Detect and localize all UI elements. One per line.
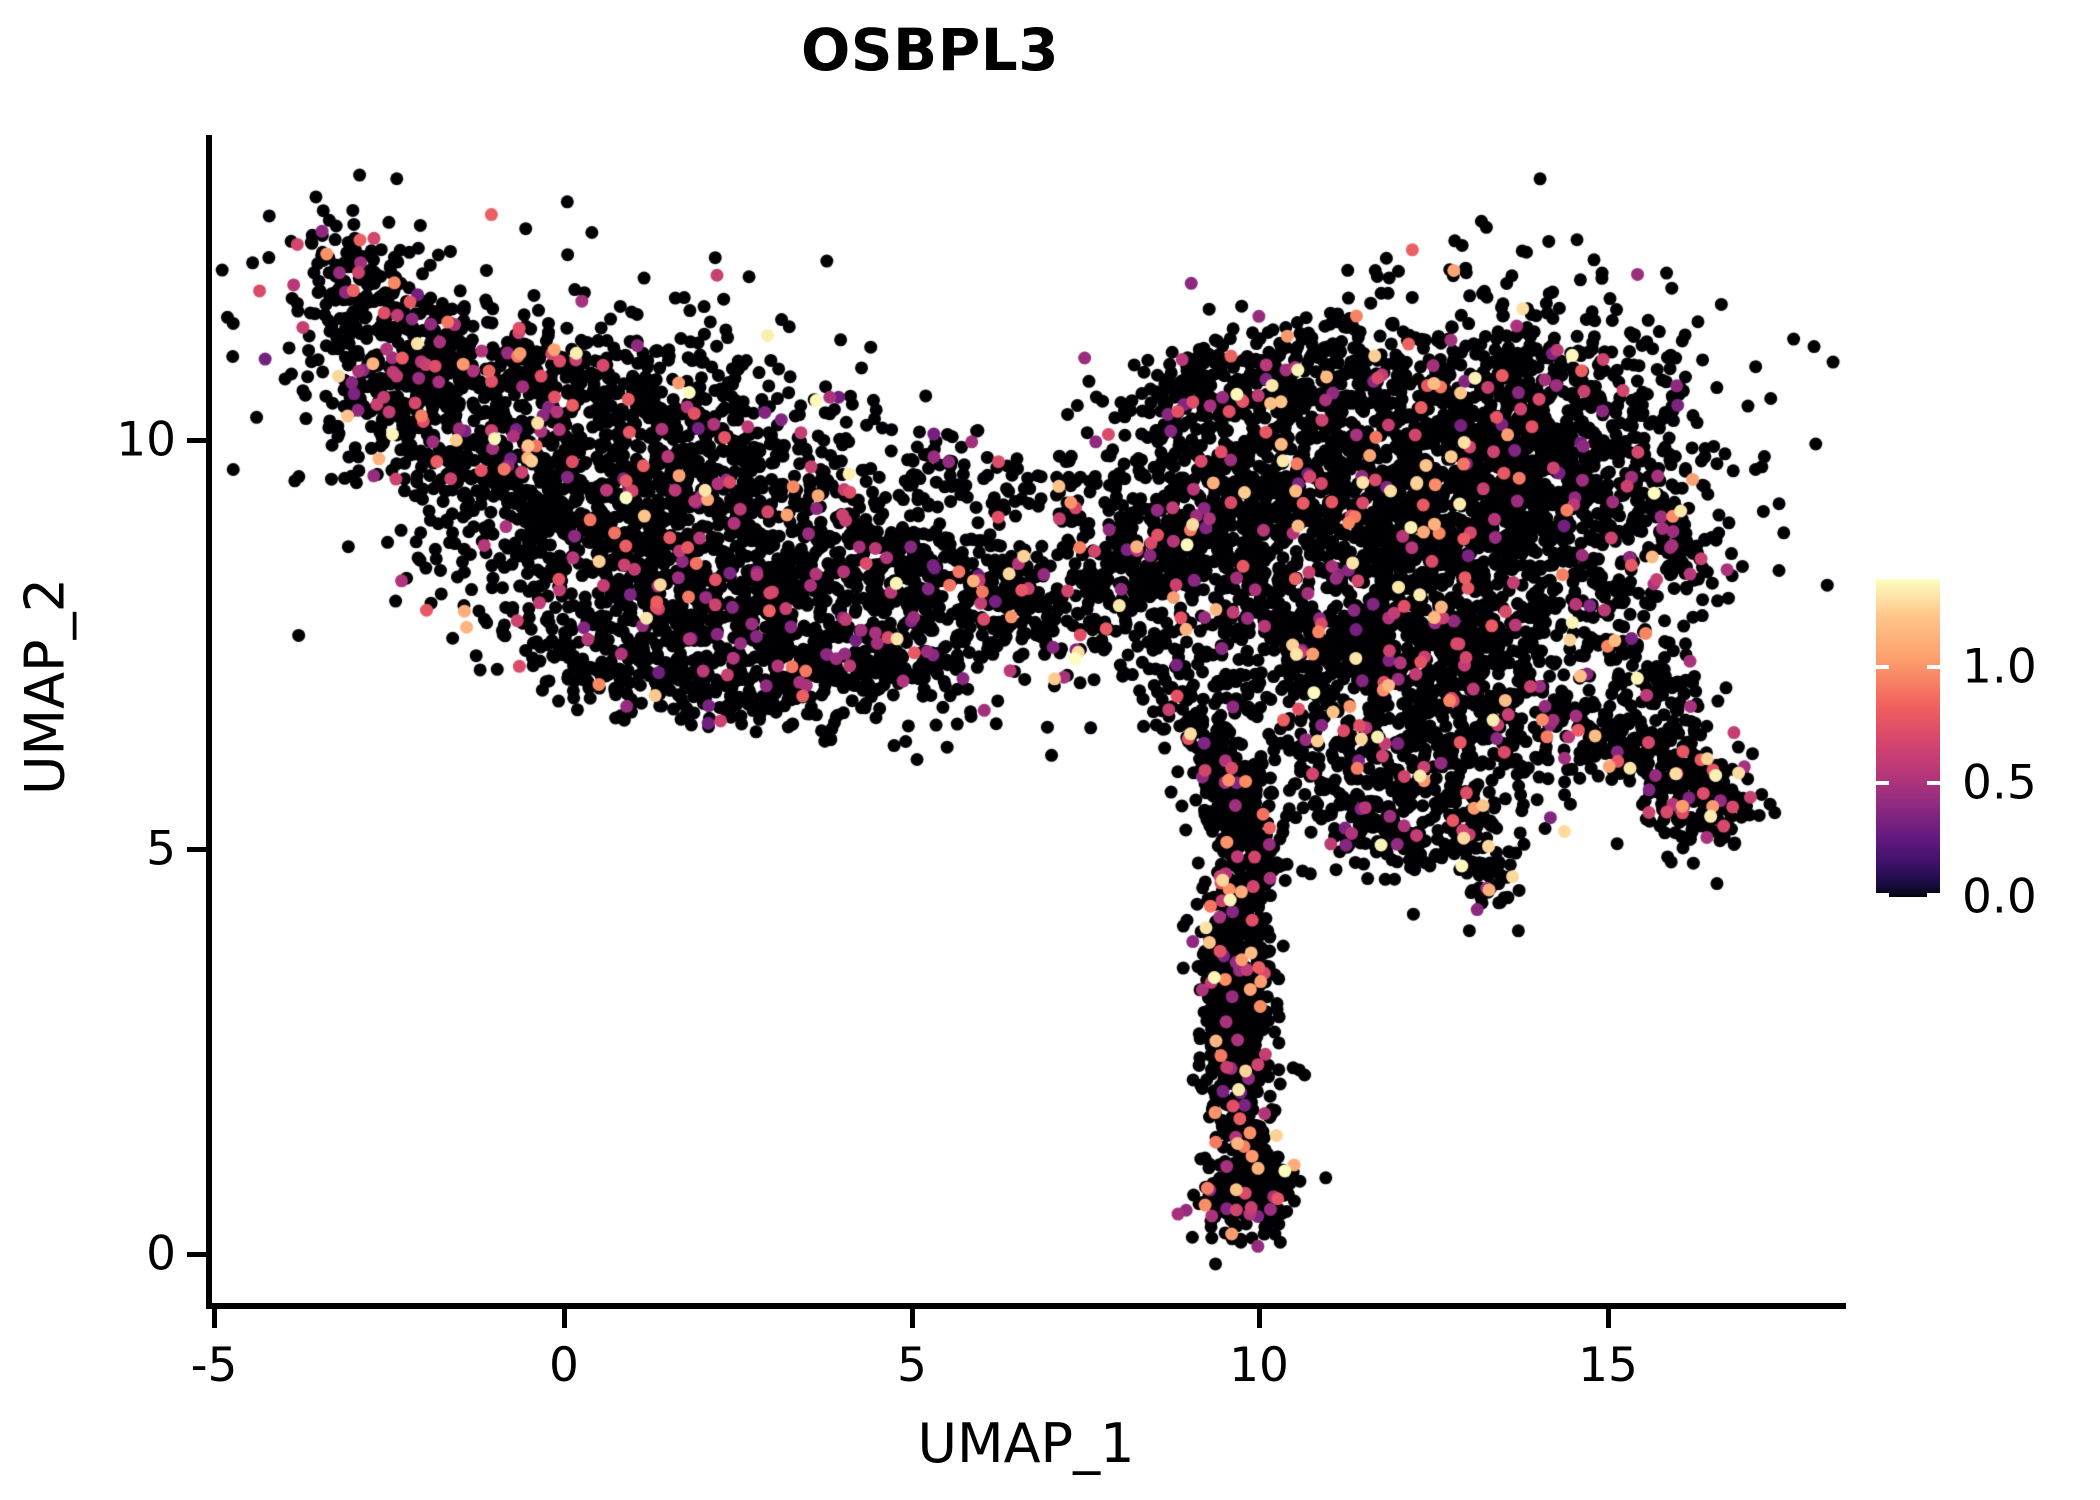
- y-tick-mark: [187, 438, 206, 443]
- x-tick-label: 15: [1578, 1338, 1638, 1393]
- colorbar-tick-mark: [1876, 665, 1889, 669]
- y-axis-label: UMAP_2: [14, 387, 77, 987]
- y-tick-mark: [187, 847, 206, 852]
- x-axis-label: UMAP_1: [212, 1412, 1840, 1475]
- x-tick-mark: [910, 1309, 915, 1328]
- y-tick-mark: [187, 1252, 206, 1257]
- colorbar-tick-mark: [1927, 781, 1940, 785]
- y-axis-spine: [206, 135, 212, 1308]
- umap-scatter-canvas: [0, 0, 2100, 1500]
- page-title: OSBPL3: [0, 16, 1860, 84]
- colorbar-tick-label: 1.0: [1962, 640, 2037, 695]
- colorbar: 1.0 0.5 0.0: [1876, 579, 1940, 897]
- x-tick-mark: [1257, 1309, 1262, 1328]
- colorbar-tick-label: 0.5: [1962, 756, 2037, 811]
- x-tick-label: 0: [549, 1338, 579, 1393]
- x-tick-mark: [1606, 1309, 1611, 1328]
- x-tick-label: 5: [897, 1338, 927, 1393]
- colorbar-tick-label: 0.0: [1962, 870, 2037, 925]
- colorbar-tick-mark: [1876, 781, 1889, 785]
- colorbar-tick-mark: [1876, 893, 1889, 897]
- colorbar-gradient: [1876, 579, 1940, 897]
- x-tick-mark: [212, 1309, 217, 1328]
- x-axis-spine: [206, 1303, 1846, 1309]
- y-tick-label: 0: [0, 1227, 176, 1282]
- figure-root: OSBPL3 -5 0 5 10 15 10 5 0 UMAP_1 UMAP_2…: [0, 0, 2100, 1500]
- colorbar-tick-mark: [1927, 665, 1940, 669]
- x-tick-label: 10: [1229, 1338, 1289, 1393]
- x-tick-label: -5: [191, 1338, 238, 1393]
- colorbar-tick-mark: [1927, 893, 1940, 897]
- x-tick-mark: [562, 1309, 567, 1328]
